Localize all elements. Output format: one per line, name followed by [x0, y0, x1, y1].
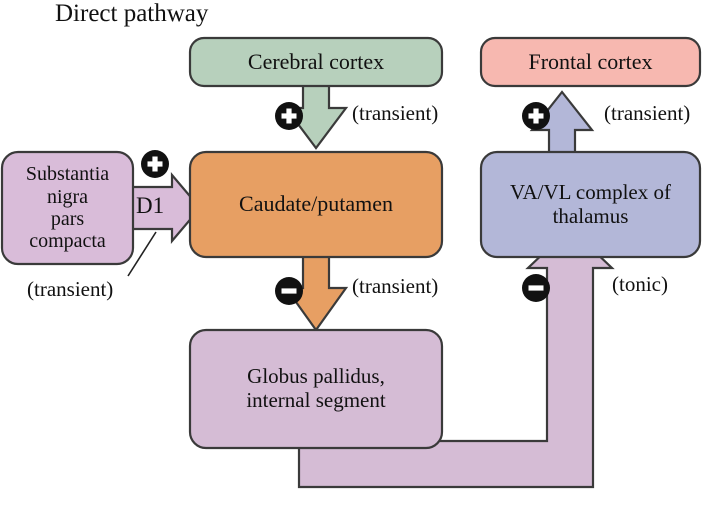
sign-badge-minus-gpi-thalamus [522, 274, 550, 302]
annotation-snc-striatum: (transient) [27, 277, 113, 302]
node-va-vl-thalamus[interactable] [481, 152, 700, 257]
node-globus-pallidus[interactable] [190, 330, 442, 448]
receptor-label-d1: D1 [136, 193, 164, 219]
annotation-cortex-striatum: (transient) [352, 101, 438, 126]
node-substantia-nigra[interactable] [2, 152, 133, 264]
sign-badge-minus-striatum-gpi [275, 277, 303, 305]
annotation-thalamus-frontal: (transient) [604, 101, 690, 126]
annotation-striatum-gpi: (transient) [352, 274, 438, 299]
sign-badge-plus-cortex-striatum [275, 102, 303, 130]
node-frontal-cortex[interactable] [481, 38, 700, 86]
annotation-gpi-thalamus: (tonic) [612, 272, 668, 297]
diagram-title: Direct pathway [55, 0, 208, 28]
diagram-canvas: Direct pathway Cerebral cortex Frontal c… [0, 0, 716, 512]
sign-badge-plus-thalamus-frontal [522, 102, 550, 130]
sign-badge-plus-snc-striatum [141, 150, 169, 178]
node-cerebral-cortex[interactable] [190, 38, 442, 86]
diagram-vector-layer [0, 0, 716, 512]
node-caudate-putamen[interactable] [190, 152, 442, 257]
